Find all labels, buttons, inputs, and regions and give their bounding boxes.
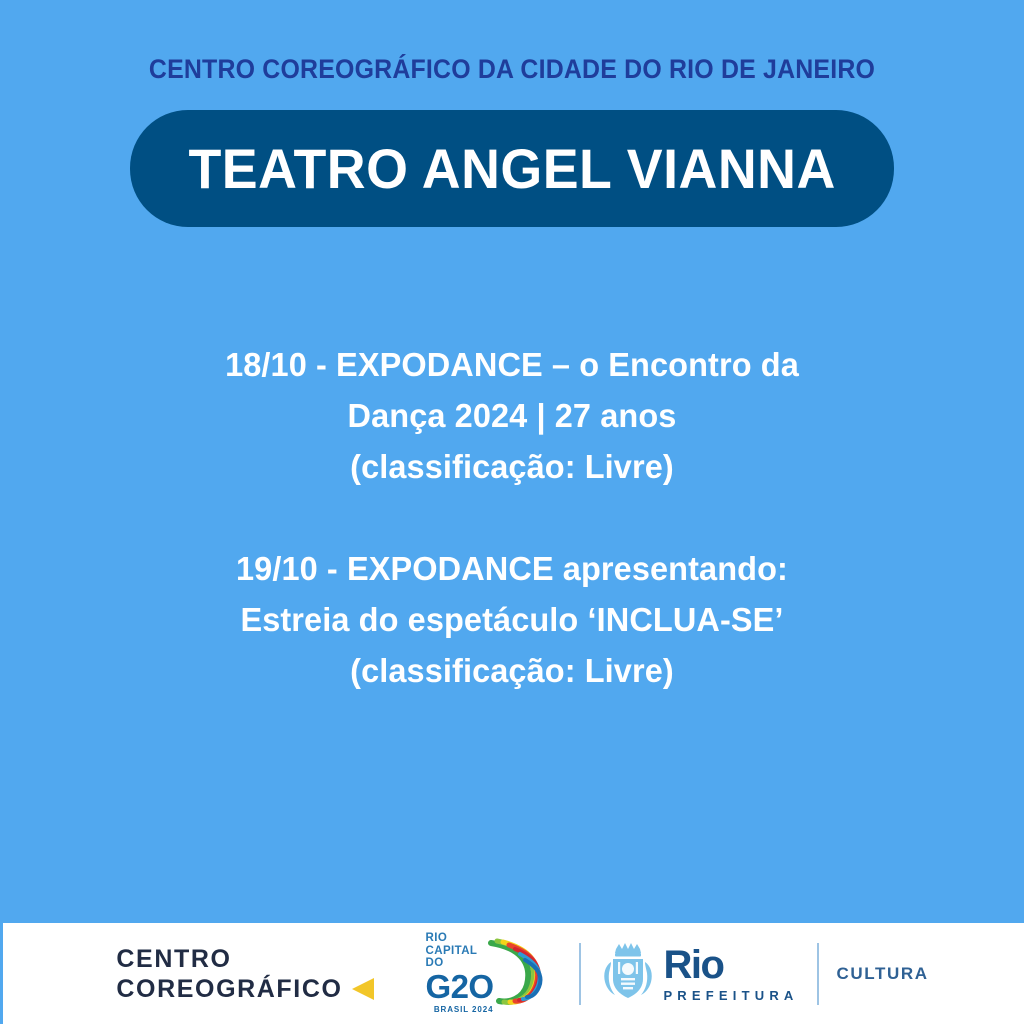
centro-coreografico-line2: COREOGRÁFICO [116, 974, 342, 1004]
event-line: (classificação: Livre) [15, 442, 1008, 493]
rio-subtitle: PREFEITURA [663, 988, 798, 1004]
triangle-icon [352, 978, 374, 1000]
g20-subtitle: BRASIL 2024 [426, 1005, 494, 1015]
events-list: 18/10 - EXPODANCE – o Encontro da Dança … [0, 340, 1024, 697]
page-title: TEATRO ANGEL VIANNA [188, 141, 835, 197]
g20-logo: RIO CAPITAL DO G2O BRASIL 2024 [426, 936, 546, 1012]
g20-ribbon-icon [487, 933, 545, 1014]
centro-coreografico-logo: CENTRO COREOGRÁFICO [116, 944, 373, 1004]
event-line: 19/10 - EXPODANCE apresentando: [15, 544, 1008, 595]
footer-divider [579, 943, 581, 1005]
event-item: 18/10 - EXPODANCE – o Encontro da Dança … [0, 340, 1024, 493]
rio-text-block: Rio PREFEITURA [663, 944, 798, 1004]
event-line: 18/10 - EXPODANCE – o Encontro da [15, 340, 1008, 391]
footer-logo-bar: CENTRO COREOGRÁFICO RIO CAPITAL DO G2O B… [3, 923, 1024, 1024]
g20-wordmark: G2O [426, 971, 494, 1003]
poster-canvas: CENTRO COREOGRÁFICO DA CIDADE DO RIO DE … [0, 0, 1024, 1024]
footer-divider-2 [817, 943, 819, 1005]
rio-wordmark: Rio [663, 944, 798, 986]
event-line: (classificação: Livre) [15, 646, 1008, 697]
centro-coreografico-line2-row: COREOGRÁFICO [116, 974, 373, 1004]
eyebrow-heading: CENTRO COREOGRÁFICO DA CIDADE DO RIO DE … [31, 54, 994, 85]
event-line: Estreia do espetáculo ‘INCLUA-SE’ [15, 595, 1008, 646]
g20-line1: RIO [426, 932, 494, 945]
footer-logos: CENTRO COREOGRÁFICO RIO CAPITAL DO G2O B… [3, 923, 1024, 1024]
title-pill: TEATRO ANGEL VIANNA [130, 110, 894, 227]
event-item: 19/10 - EXPODANCE apresentando: Estreia … [0, 544, 1024, 697]
rio-coat-of-arms-icon [599, 940, 657, 1007]
event-spacer [0, 493, 1024, 544]
rio-prefeitura-logo: Rio PREFEITURA [599, 935, 798, 1013]
cultura-label: CULTURA [837, 964, 929, 984]
event-line: Dança 2024 | 27 anos [15, 391, 1008, 442]
g20-line2: CAPITAL [426, 945, 494, 958]
g20-text-block: RIO CAPITAL DO G2O BRASIL 2024 [426, 932, 494, 1015]
centro-coreografico-line1: CENTRO [116, 944, 373, 974]
